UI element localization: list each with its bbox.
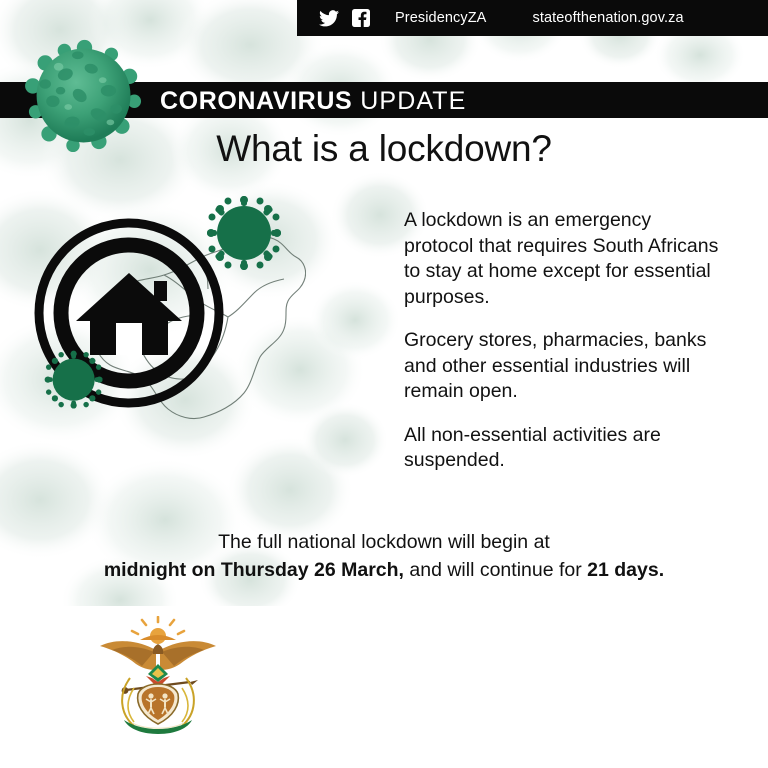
- emphasis-bold-date: midnight on Thursday 26 March,: [104, 559, 404, 581]
- emphasis-line-2: midnight on Thursday 26 March, and will …: [0, 556, 768, 584]
- body-copy: A lockdown is an emergency protocol that…: [404, 208, 724, 474]
- coronavirus-lockdown-infographic: PresidencyZA stateofthenation.gov.za: [0, 0, 768, 768]
- footer: REPUBLIC OF SOUTH AFRICA: [0, 606, 768, 768]
- virus-particle-icon: [22, 38, 147, 153]
- lockdown-graphic: [16, 185, 306, 445]
- twitter-icon[interactable]: [319, 10, 339, 27]
- emphasis-bold-duration: 21 days.: [587, 559, 664, 581]
- house-icon: [76, 273, 182, 355]
- body-paragraph-2: Grocery stores, pharmacies, banks and ot…: [404, 328, 724, 405]
- facebook-icon[interactable]: [352, 9, 370, 27]
- banner-text: CORONAVIRUS UPDATE: [160, 83, 466, 119]
- social-top-bar: PresidencyZA stateofthenation.gov.za: [297, 0, 768, 36]
- topbar-website[interactable]: stateofthenation.gov.za: [532, 10, 683, 26]
- virus-particle-icon: [207, 196, 281, 270]
- banner-word-coronavirus: CORONAVIRUS: [160, 87, 352, 116]
- social-handle[interactable]: PresidencyZA: [395, 10, 486, 26]
- south-africa-coat-of-arms: [68, 616, 248, 736]
- emphasis-line-1: The full national lockdown will begin at: [0, 528, 768, 556]
- body-paragraph-1: A lockdown is an emergency protocol that…: [404, 208, 724, 310]
- body-paragraph-3: All non-essential activities are suspend…: [404, 423, 724, 474]
- lockdown-start-statement: The full national lockdown will begin at…: [0, 528, 768, 584]
- virus-particle-icon: [45, 351, 103, 409]
- emphasis-middle: and will continue for: [404, 559, 587, 581]
- banner-word-update: UPDATE: [360, 87, 466, 116]
